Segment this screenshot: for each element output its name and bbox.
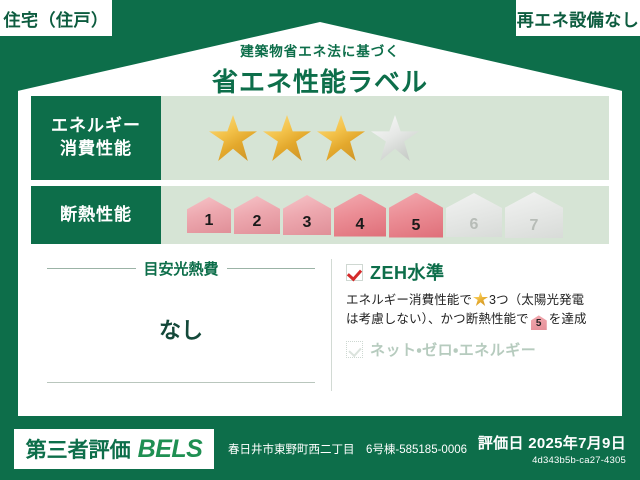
energy-star-rating — [161, 96, 609, 180]
inline-star-icon — [473, 292, 488, 306]
property-address: 春日井市東野町西二丁目 6号棟-585185-0006 — [228, 441, 467, 457]
zeh-description: エネルギー消費性能で3つ（太陽光発電 は考慮しない）、かつ断熱性能で5を達成 — [346, 291, 599, 330]
zeh-desc-part1: エネルギー消費性能で — [346, 293, 472, 307]
bels-logo: 第三者評価 BELS — [14, 429, 214, 469]
cost-rule-right — [227, 268, 316, 269]
label-lower-section: 目安光熱費 なし ZEH水準 エネルギー消費性能で3つ（太陽光発電 は考慮しない… — [31, 249, 609, 401]
insulation-performance-label: 断熱性能 — [31, 186, 161, 244]
insulation-level-5-value: 5 — [412, 218, 421, 234]
cost-rule-left — [47, 268, 136, 269]
energy-performance-row: エネルギー 消費性能 — [31, 96, 609, 180]
insulation-label-text: 断熱性能 — [60, 204, 132, 227]
cost-bottom-divider — [47, 382, 315, 383]
zeh-title: ZEH水準 — [370, 259, 445, 285]
insulation-level-6-value: 6 — [470, 217, 479, 233]
star-2-filled — [263, 115, 311, 161]
star-4-empty — [371, 115, 419, 161]
bels-logo-en: BELS — [138, 435, 203, 464]
insulation-level-7-value: 7 — [530, 218, 539, 234]
label-content-card: エネルギー 消費性能 断熱性能 1 2 3 4 5 6 7 — [31, 96, 609, 403]
energy-label-line2: 消費性能 — [60, 138, 132, 161]
insulation-level-6: 6 — [446, 193, 502, 237]
insulation-level-4-value: 4 — [356, 217, 365, 233]
insulation-level-5: 5 — [389, 193, 443, 238]
insulation-level-3: 3 — [283, 195, 331, 235]
star-1-filled — [209, 115, 257, 161]
insulation-level-2-value: 2 — [253, 214, 262, 230]
insulation-level-7: 7 — [505, 192, 563, 238]
zeh-desc-part3: を達成 — [549, 312, 587, 326]
evaluation-info: 評価日 2025年7月9日 4d343b5b-ca27-4305 — [478, 432, 626, 466]
renewable-equipment-badge: 再エネ設備なし — [516, 0, 640, 36]
bels-energy-label: 住宅（住戸） 再エネ設備なし 建築物省エネ法に基づく 省エネ性能ラベル エネルギ… — [0, 0, 640, 480]
label-footer: 第三者評価 BELS 春日井市東野町西二丁目 6号棟-585185-0006 評… — [0, 418, 640, 480]
insulation-level-4: 4 — [334, 194, 386, 237]
netzero-row: ネット・ゼロ・エネルギー — [346, 339, 599, 360]
utility-cost-title: 目安光熱費 — [144, 258, 219, 279]
inline-house-icon: 5 — [531, 315, 547, 330]
insulation-level-1-value: 1 — [205, 213, 214, 229]
insulation-level-3-value: 3 — [303, 215, 312, 231]
zeh-desc-part2: は考慮しない）、かつ断熱性能で — [346, 312, 529, 326]
utility-cost-header: 目安光熱費 — [47, 258, 315, 279]
insulation-level-1: 1 — [187, 197, 231, 233]
netzero-label: ネット・ゼロ・エネルギー — [370, 339, 536, 360]
zeh-checkbox-icon — [346, 264, 363, 281]
building-type-badge: 住宅（住戸） — [0, 0, 112, 36]
zeh-section: ZEH水準 エネルギー消費性能で3つ（太陽光発電 は考慮しない）、かつ断熱性能で… — [332, 249, 609, 401]
bels-logo-jp: 第三者評価 — [26, 434, 131, 464]
zeh-header: ZEH水準 — [346, 259, 599, 285]
netzero-checkbox-icon — [346, 341, 363, 358]
evaluation-id: 4d343b5b-ca27-4305 — [478, 455, 626, 466]
evaluation-date: 評価日 2025年7月9日 — [478, 432, 626, 453]
insulation-level-2: 2 — [234, 196, 280, 234]
star-3-filled — [317, 115, 365, 161]
energy-label-line1: エネルギー — [51, 115, 141, 138]
energy-performance-label: エネルギー 消費性能 — [31, 96, 161, 180]
zeh-desc-stars: 3つ（太陽光発電 — [489, 293, 584, 307]
insulation-level-scale: 1 2 3 4 5 6 7 — [161, 186, 609, 244]
utility-cost-section: 目安光熱費 なし — [31, 249, 331, 401]
insulation-performance-row: 断熱性能 1 2 3 4 5 6 7 — [31, 186, 609, 244]
